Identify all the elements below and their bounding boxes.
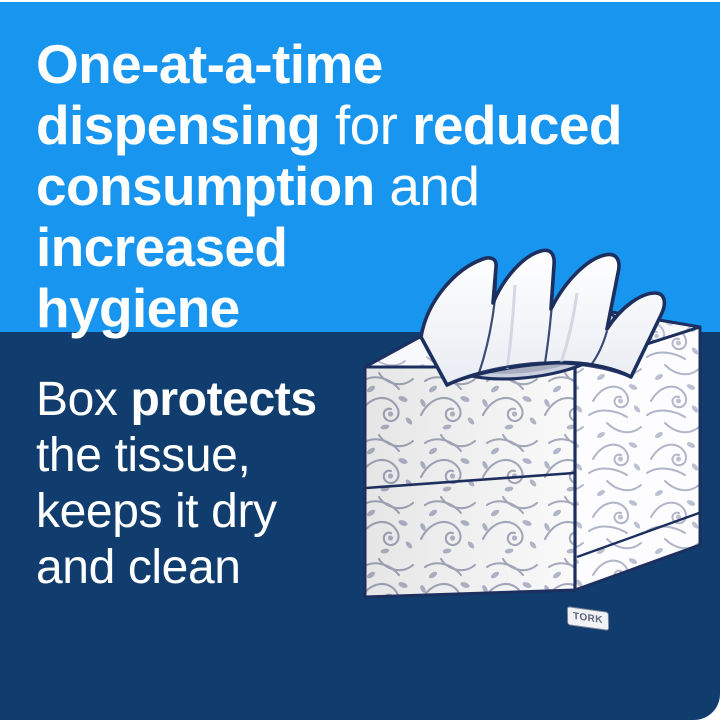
subhead-text: Box protectsthe tissue,keeps it dryand c… [36,372,396,596]
box-left-face [365,367,575,597]
headline-line1-bold: One-at-a-time [36,33,383,95]
tork-logo-text: TORK [573,611,603,625]
promotional-banner: One-at-a-timedispensing for reducedconsu… [0,0,720,720]
subhead-line3: keeps it dry [36,485,277,538]
tissue-sheet [421,250,664,385]
headline-line3-bold: consumption [36,155,375,217]
headline-line3-bold-b: increased [36,216,287,278]
subhead-line2: the tissue, [36,429,250,482]
headline-line3-regular: and [375,155,480,217]
headline-line4-bold: hygiene [36,277,240,339]
subhead-line1-bold: protects [130,373,316,426]
tissue-box-illustration [355,245,720,665]
headline-line2-bold-b: reduced [412,94,622,156]
headline-line2-bold: dispensing [36,94,320,156]
subhead-line4: and clean [36,541,241,594]
headline-line2-regular: for [320,94,412,156]
subhead-line1-regular: Box [36,373,130,426]
